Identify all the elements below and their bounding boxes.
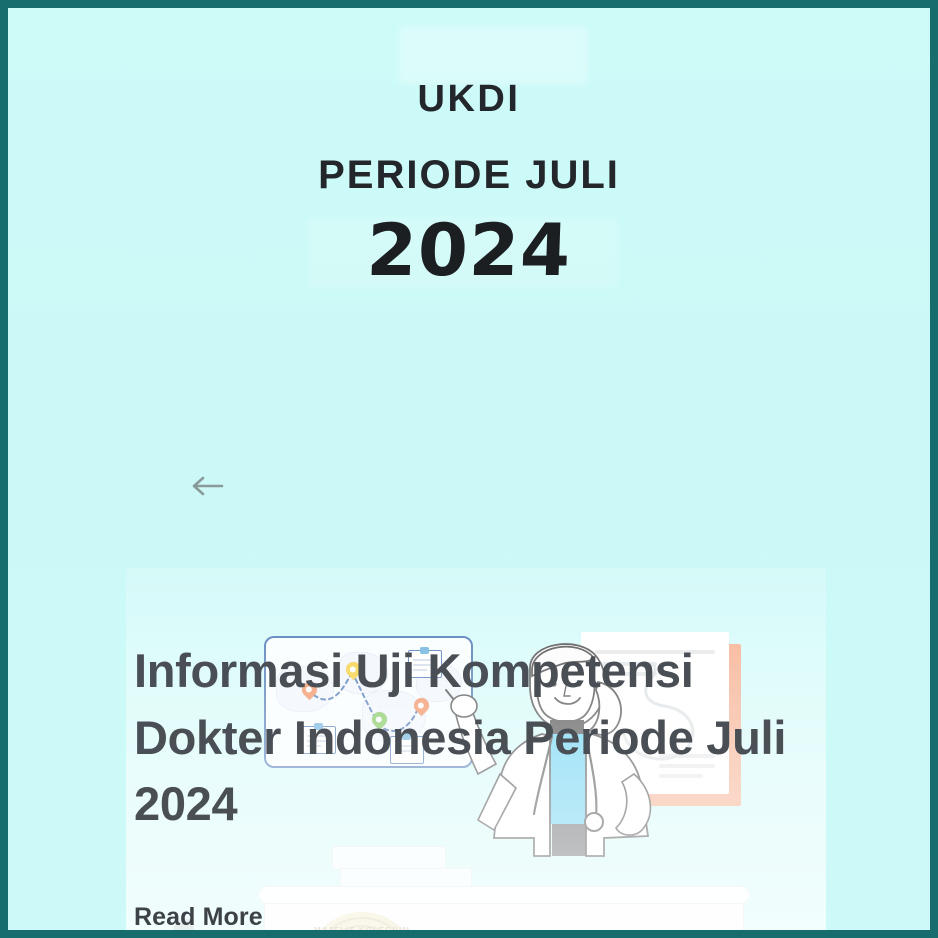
slide-title: Informasi Uji Kompetensi Dokter Indonesi… xyxy=(134,638,834,838)
desk-rail xyxy=(258,886,750,904)
carousel-prev-button[interactable] xyxy=(186,464,230,508)
arrow-left-icon xyxy=(191,475,225,497)
banner-headline-line1: UKDI xyxy=(8,80,930,120)
background-watermark-secondary xyxy=(308,218,618,288)
carousel-frame: UKDI PERIODE JULI 2024 xyxy=(0,0,938,938)
background-watermark xyxy=(398,26,588,84)
stacked-book xyxy=(332,846,446,870)
seal-label-top: MAJELIS KOLEGIUM DOKTER xyxy=(306,926,418,930)
banner-headline-line2: PERIODE JULI xyxy=(8,154,930,196)
carousel-slide[interactable]: UKDI PERIODE JULI 2024 xyxy=(8,8,930,930)
read-more-link[interactable]: Read More xyxy=(134,903,263,930)
